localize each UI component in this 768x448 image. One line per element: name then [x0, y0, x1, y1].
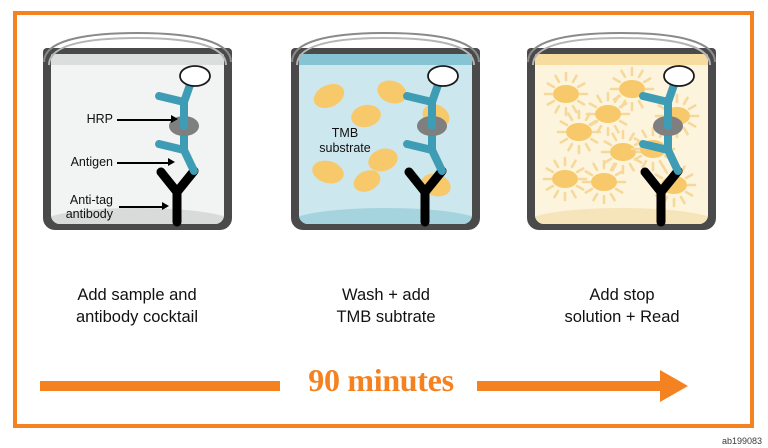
- timeline-arrow: 90 minutes: [40, 362, 720, 410]
- hrp-arrow-line: [117, 119, 172, 121]
- timeline-bar-right: [477, 381, 667, 391]
- label-anti-tag-antibody: Anti-tag antibody: [39, 193, 113, 221]
- step-3-caption: Add stop solution + Read: [507, 285, 737, 329]
- figure-root: HRP Antigen Anti-tag antibody Add sample…: [0, 0, 768, 448]
- label-tmb-substrate: TMB substrate: [297, 126, 393, 156]
- step-1-column: HRP Antigen Anti-tag antibody Add sample…: [35, 30, 240, 230]
- hrp-shape: [428, 66, 458, 86]
- label-hrp: HRP: [49, 112, 113, 126]
- label-antigen: Antigen: [43, 155, 113, 169]
- microplate-well-2: TMB substrate: [283, 30, 488, 230]
- well-rim: [39, 32, 236, 66]
- hrp-arrow-head: [171, 115, 178, 123]
- antibody-complex-2: [395, 64, 471, 222]
- microplate-well-3: [519, 30, 724, 230]
- timeline-label: 90 minutes: [288, 362, 474, 399]
- well-rim: [523, 32, 720, 66]
- microplate-well-1: HRP Antigen Anti-tag antibody: [35, 30, 240, 230]
- timeline-bar-left: [40, 381, 280, 391]
- hrp-shape: [664, 66, 694, 86]
- anti-tag-antibody-shape: [409, 171, 442, 222]
- figure-code: ab199083: [722, 436, 762, 446]
- step-2-column: TMB substrate Wash + add TMB subtrate: [283, 30, 488, 230]
- antigen-arrow-line: [117, 162, 169, 164]
- antitag-arrow-line: [119, 206, 163, 208]
- well-rim: [287, 32, 484, 66]
- anti-tag-antibody-shape: [161, 171, 194, 222]
- anti-tag-antibody-shape: [645, 171, 678, 222]
- antigen-arrow-head: [168, 158, 175, 166]
- antibody-complex-1: [147, 64, 223, 222]
- antibody-complex-3: [631, 64, 707, 222]
- hrp-shape: [180, 66, 210, 86]
- step-1-caption: Add sample and antibody cocktail: [22, 285, 252, 329]
- step-3-column: Add stop solution + Read: [519, 30, 724, 230]
- antitag-arrow-head: [162, 202, 169, 210]
- step-2-caption: Wash + add TMB subtrate: [271, 285, 501, 329]
- timeline-arrow-head: [660, 370, 688, 402]
